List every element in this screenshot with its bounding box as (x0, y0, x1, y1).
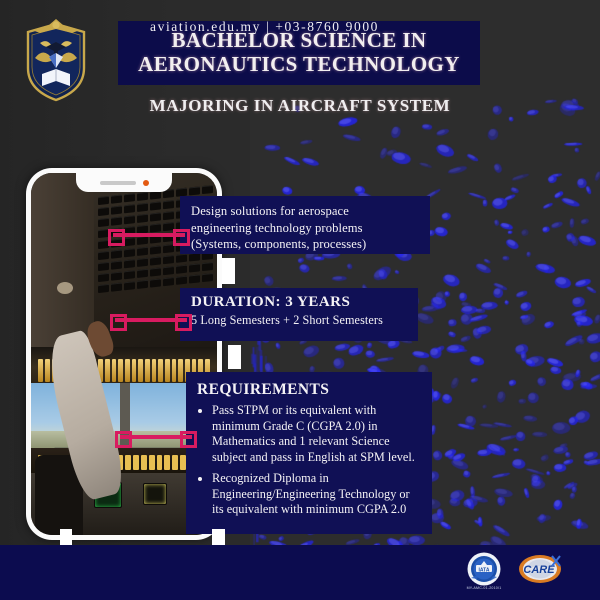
svg-text:CARE: CARE (523, 564, 555, 576)
poster-root: BACHELOR SCIENCE IN AERONAUTICS TECHNOLO… (0, 0, 600, 600)
overhead-switch-icon (150, 279, 161, 288)
glareshield-light-icon (132, 359, 137, 382)
iata-certification-badge-icon: IATA (467, 552, 501, 586)
panel-requirements: REQUIREMENTS Pass STPM or its equivalent… (186, 372, 432, 534)
connector-node-right (180, 431, 197, 448)
objective-line-1: Design solutions for aerospace (191, 203, 420, 220)
overhead-switch-icon (137, 192, 148, 201)
overhead-switch-icon (111, 261, 122, 270)
overhead-switch-icon (202, 262, 213, 271)
mcp-light-icon (141, 455, 147, 469)
overhead-switch-icon (111, 250, 122, 259)
overhead-switch-icon (137, 214, 148, 223)
overhead-switch-icon (150, 224, 161, 233)
overhead-switch-icon (124, 259, 135, 268)
overhead-switch-icon (111, 206, 122, 215)
connector-line-requirements (120, 435, 192, 439)
accent-square (60, 529, 72, 545)
mcp-light-icon (133, 455, 139, 469)
overhead-switch-icon (98, 273, 109, 282)
mcp-light-icon (172, 455, 178, 469)
phone-notch (76, 173, 172, 192)
connector-node-left (108, 229, 125, 246)
connector-line-objective (113, 233, 185, 237)
requirements-heading: REQUIREMENTS (197, 381, 422, 399)
glareshield-light-icon (172, 359, 177, 382)
panel-duration: DURATION: 3 YEARS 5 Long Semesters + 2 S… (180, 288, 418, 341)
objective-line-3: (Systems, components, processes) (191, 236, 420, 253)
front-camera-icon (143, 180, 149, 186)
mcp-light-icon (125, 455, 131, 469)
overhead-switch-icon (98, 251, 109, 260)
glareshield-light-icon (158, 359, 163, 382)
glareshield-light-icon (112, 359, 117, 382)
overhead-switch-icon (111, 195, 122, 204)
care-certification-badge-icon: CARE (518, 554, 562, 584)
glareshield-light-icon (118, 359, 123, 382)
accent-square (212, 529, 225, 545)
overhead-switch-icon (150, 213, 161, 222)
overhead-switch-icon (150, 268, 161, 277)
overhead-switch-icon (111, 272, 122, 281)
overhead-switch-icon (124, 237, 135, 246)
overhead-switch-icon (150, 257, 161, 266)
glareshield-light-icon (125, 359, 130, 382)
overhead-switch-icon (124, 204, 135, 213)
glareshield-light-icon (152, 359, 157, 382)
overhead-switch-icon (189, 274, 200, 283)
overhead-switch-icon (163, 200, 174, 209)
overhead-switch-icon (124, 248, 135, 257)
duration-subtext: 5 Long Semesters + 2 Short Semesters (191, 313, 408, 328)
connector-node-left (110, 314, 127, 331)
mcp-light-icon (164, 455, 170, 469)
eicas-display (143, 483, 167, 505)
overhead-switch-icon (98, 262, 109, 271)
overhead-switch-icon (176, 265, 187, 274)
accent-square (228, 345, 241, 369)
accent-square (222, 258, 235, 284)
overhead-switch-icon (137, 280, 148, 289)
overhead-switch-icon (163, 266, 174, 275)
svg-text:IATA: IATA (479, 567, 490, 573)
overhead-switch-icon (111, 217, 122, 226)
subtitle: MAJORING IN AIRCRAFT SYSTEM (0, 96, 600, 116)
overhead-switch-icon (163, 277, 174, 286)
overhead-knob-icon (57, 282, 73, 294)
glareshield-light-icon (105, 359, 110, 382)
overhead-switch-icon (124, 281, 135, 290)
overhead-switch-icon (98, 196, 109, 205)
connector-node-right (175, 314, 192, 331)
overhead-switch-icon (150, 246, 161, 255)
glareshield-light-icon (38, 359, 43, 382)
academy-crest-icon (22, 16, 90, 104)
overhead-switch-icon (137, 269, 148, 278)
objective-line-2: engineering technology problems (191, 220, 420, 237)
glareshield-light-icon (178, 359, 183, 382)
list-item: Recognized Diploma in Engineering/Engine… (212, 471, 422, 518)
glareshield-light-icon (45, 359, 50, 382)
overhead-switch-icon (137, 258, 148, 267)
iata-badge-caption: MY-AMC-01-2010/1 (455, 586, 513, 590)
overhead-switch-icon (137, 247, 148, 256)
mcp-light-icon (157, 455, 163, 469)
glareshield-light-icon (165, 359, 170, 382)
list-item: Pass STPM or its equivalent with minimum… (212, 403, 422, 466)
overhead-switch-icon (163, 211, 174, 220)
overhead-switch-icon (176, 254, 187, 263)
connector-node-left (115, 431, 132, 448)
overhead-switch-icon (98, 207, 109, 216)
duration-heading: DURATION: 3 YEARS (191, 294, 408, 311)
connector-node-right (173, 229, 190, 246)
overhead-switch-icon (150, 202, 161, 211)
overhead-switch-icon (124, 193, 135, 202)
overhead-switch-icon (124, 270, 135, 279)
overhead-switch-icon (124, 215, 135, 224)
overhead-switch-icon (202, 273, 213, 282)
overhead-switch-icon (189, 186, 200, 195)
requirements-list: Pass STPM or its equivalent with minimum… (197, 403, 422, 518)
title-line-2: AERONAUTICS TECHNOLOGY (138, 53, 460, 77)
overhead-switch-icon (137, 203, 148, 212)
overhead-switch-icon (163, 255, 174, 264)
speaker-grill-icon (100, 181, 136, 185)
overhead-switch-icon (98, 284, 109, 293)
connector-line-duration (115, 318, 187, 322)
panel-objective: Design solutions for aerospace engineeri… (180, 196, 430, 254)
footer-contact[interactable]: aviation.edu.my | +03-8760 9000 (150, 19, 379, 35)
glareshield-light-icon (145, 359, 150, 382)
glareshield-light-icon (138, 359, 143, 382)
overhead-switch-icon (137, 236, 148, 245)
mcp-light-icon (149, 455, 155, 469)
overhead-switch-icon (111, 283, 122, 292)
overhead-switch-icon (98, 218, 109, 227)
footer-bar (0, 545, 600, 600)
overhead-switch-icon (202, 185, 213, 194)
overhead-switch-icon (189, 263, 200, 272)
overhead-switch-icon (176, 276, 187, 285)
